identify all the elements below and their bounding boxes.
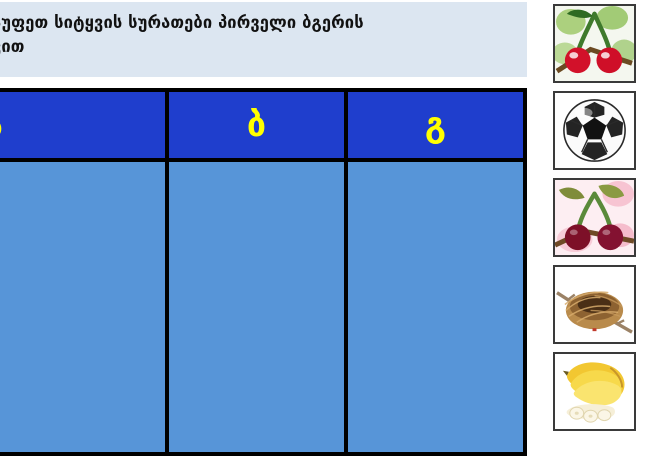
tray-item-bananas[interactable]: bananas	[553, 352, 636, 431]
drop-zone-a-surface[interactable]	[0, 162, 165, 452]
header-letter-a: ა	[0, 108, 3, 142]
drop-zone-g-surface[interactable]	[348, 162, 523, 452]
header-letter-b: ბ	[247, 108, 266, 142]
cherries-dark-icon	[555, 180, 634, 255]
soccer-ball-icon	[555, 93, 634, 168]
instruction-banner: აუფეთ სიტყვის სურათები პირველი ბგერის ვი…	[0, 2, 527, 77]
tray-item-alt: bird's nest	[555, 342, 556, 343]
drop-zone-b-surface[interactable]	[169, 162, 344, 452]
bananas-icon	[555, 354, 634, 429]
tray-item-birds-nest[interactable]: bird's nest	[553, 265, 636, 344]
column-header-a: ა	[0, 92, 165, 158]
tray-item-soccer-ball[interactable]: soccer ball	[553, 91, 636, 170]
sorting-table: ა ბ გ	[0, 88, 527, 456]
column-header-g: გ	[344, 92, 523, 158]
instruction-text: აუფეთ სიტყვის სურათები პირველი ბგერის ვი…	[0, 11, 521, 59]
tray-item-alt: bananas	[555, 429, 556, 430]
image-tray: cherries soccer ball	[541, 0, 648, 470]
tray-item-alt: dark cherries	[555, 255, 556, 256]
tray-item-cherries-red[interactable]: cherries	[553, 4, 636, 83]
tray-item-alt: cherries	[555, 81, 556, 82]
birds-nest-icon	[555, 267, 634, 342]
column-header-b: ბ	[165, 92, 344, 158]
header-letter-g: გ	[425, 108, 446, 142]
drop-zone-column-a[interactable]	[0, 162, 165, 452]
cherries-red-icon	[555, 6, 634, 81]
drop-zone-column-b[interactable]	[165, 162, 344, 452]
tray-item-alt: soccer ball	[555, 168, 556, 169]
tray-item-cherries-dark[interactable]: dark cherries	[553, 178, 636, 257]
table-body-row	[0, 162, 523, 452]
table-header-row: ა ბ გ	[0, 92, 523, 162]
drop-zone-column-g[interactable]	[344, 162, 523, 452]
word-sorting-activity: აუფეთ სიტყვის სურათები პირველი ბგერის ვი…	[0, 0, 648, 470]
